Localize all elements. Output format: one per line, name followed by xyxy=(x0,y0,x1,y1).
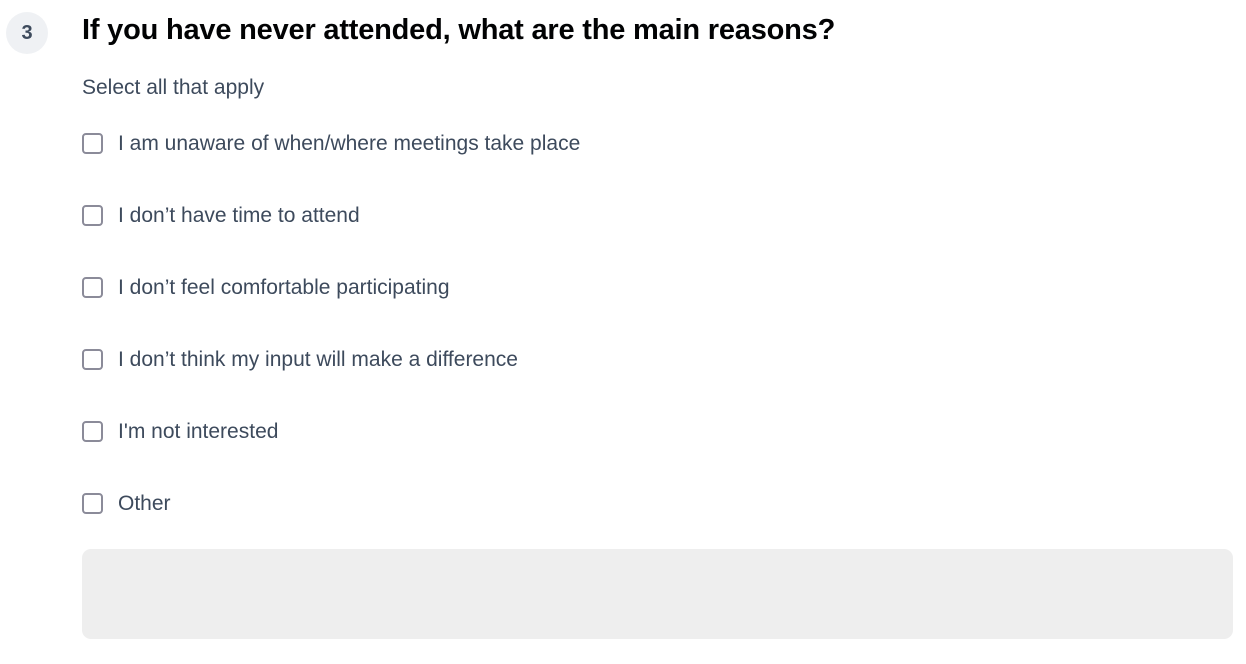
checkbox-option-row-other[interactable]: Other xyxy=(82,493,1233,515)
checkbox-unchecked-icon[interactable] xyxy=(82,205,103,226)
checkbox-option-label: I don’t have time to attend xyxy=(118,205,360,227)
checkbox-option-list: I am unaware of when/where meetings take… xyxy=(82,100,1233,515)
checkbox-unchecked-icon[interactable] xyxy=(82,133,103,154)
checkbox-option-row[interactable]: I don’t feel comfortable participating xyxy=(82,277,1233,299)
checkbox-option-label: I am unaware of when/where meetings take… xyxy=(118,133,580,155)
question-helper-text: Select all that apply xyxy=(82,48,1233,100)
question-number-badge: 3 xyxy=(6,12,48,54)
checkbox-unchecked-icon[interactable] xyxy=(82,493,103,514)
question-block: 3 If you have never attended, what are t… xyxy=(0,0,1246,664)
checkbox-option-label: I don’t feel comfortable participating xyxy=(118,277,450,299)
checkbox-option-row[interactable]: I don’t think my input will make a diffe… xyxy=(82,349,1233,371)
checkbox-option-row[interactable]: I don’t have time to attend xyxy=(82,205,1233,227)
other-text-input[interactable] xyxy=(82,549,1233,639)
checkbox-option-row[interactable]: I am unaware of when/where meetings take… xyxy=(82,133,1233,155)
checkbox-option-label: I don’t think my input will make a diffe… xyxy=(118,349,518,371)
checkbox-option-row[interactable]: I'm not interested xyxy=(82,421,1233,443)
question-content: If you have never attended, what are the… xyxy=(82,0,1233,639)
checkbox-option-label: I'm not interested xyxy=(118,421,278,443)
checkbox-option-label: Other xyxy=(118,493,171,515)
checkbox-unchecked-icon[interactable] xyxy=(82,421,103,442)
checkbox-unchecked-icon[interactable] xyxy=(82,277,103,298)
question-title: If you have never attended, what are the… xyxy=(82,0,1233,48)
checkbox-unchecked-icon[interactable] xyxy=(82,349,103,370)
